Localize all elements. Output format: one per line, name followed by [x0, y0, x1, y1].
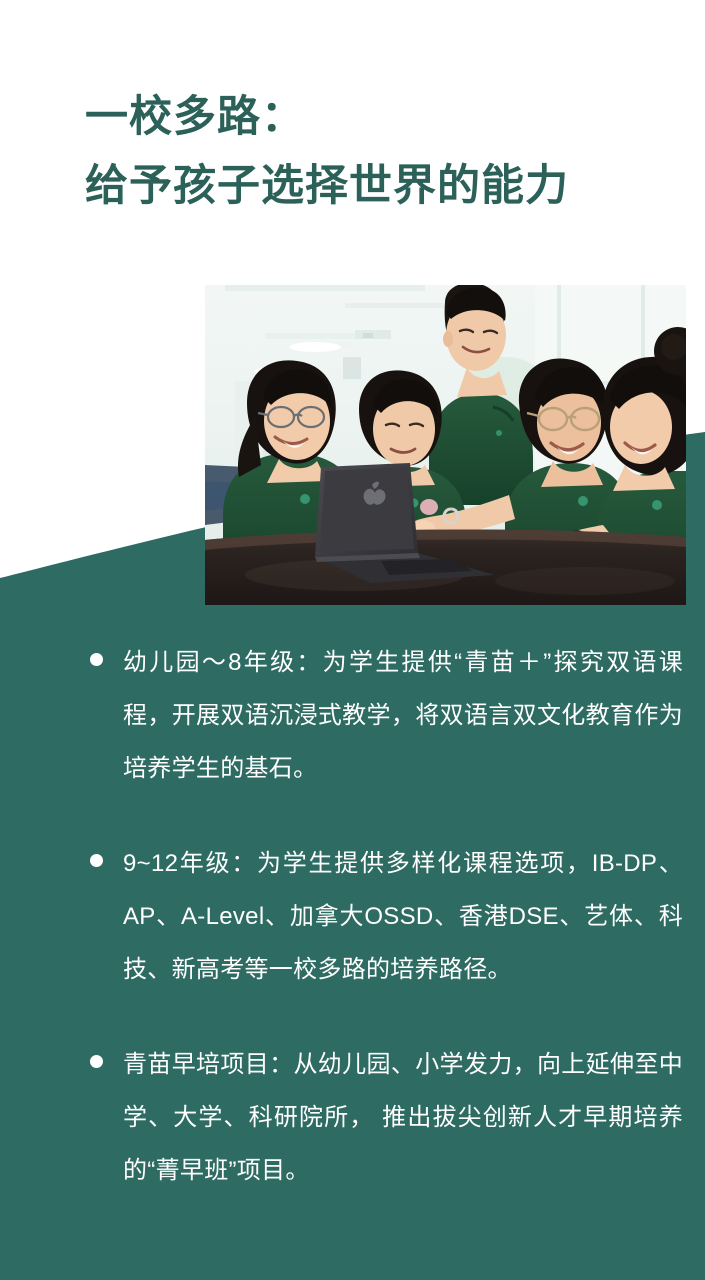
bullet-text-2: 9~12年级：为学生提供多样化课程选项，IB-DP、AP、A-Level、加拿大… — [123, 837, 683, 996]
poster-root: 一校多路： 给予孩子选择世界的能力 — [0, 0, 705, 1280]
bullet-dot-icon — [90, 653, 103, 666]
list-item: 9~12年级：为学生提供多样化课程选项，IB-DP、AP、A-Level、加拿大… — [0, 837, 705, 996]
list-item: 幼儿园～8年级：为学生提供“青苗＋”探究双语课程，开展双语沉浸式教学，将双语言双… — [0, 636, 705, 795]
list-item: 青苗早培项目：从幼儿园、小学发力，向上延伸至中学、大学、科研院所， 推出拔尖创新… — [0, 1038, 705, 1197]
bullet-list: 幼儿园～8年级：为学生提供“青苗＋”探究双语课程，开展双语沉浸式教学，将双语言双… — [0, 636, 705, 1239]
page-title: 一校多路： 给予孩子选择世界的能力 — [85, 96, 569, 208]
students-photo — [205, 285, 686, 605]
bullet-text-1: 幼儿园～8年级：为学生提供“青苗＋”探究双语课程，开展双语沉浸式教学，将双语言双… — [123, 636, 683, 795]
bullet-dot-icon — [90, 1055, 103, 1068]
students-photo-illustration — [205, 285, 686, 605]
title-line-2: 给予孩子选择世界的能力 — [85, 165, 569, 208]
bullet-text-3: 青苗早培项目：从幼儿园、小学发力，向上延伸至中学、大学、科研院所， 推出拔尖创新… — [123, 1038, 683, 1197]
title-line-1: 一校多路： — [85, 96, 569, 139]
bullet-dot-icon — [90, 854, 103, 867]
